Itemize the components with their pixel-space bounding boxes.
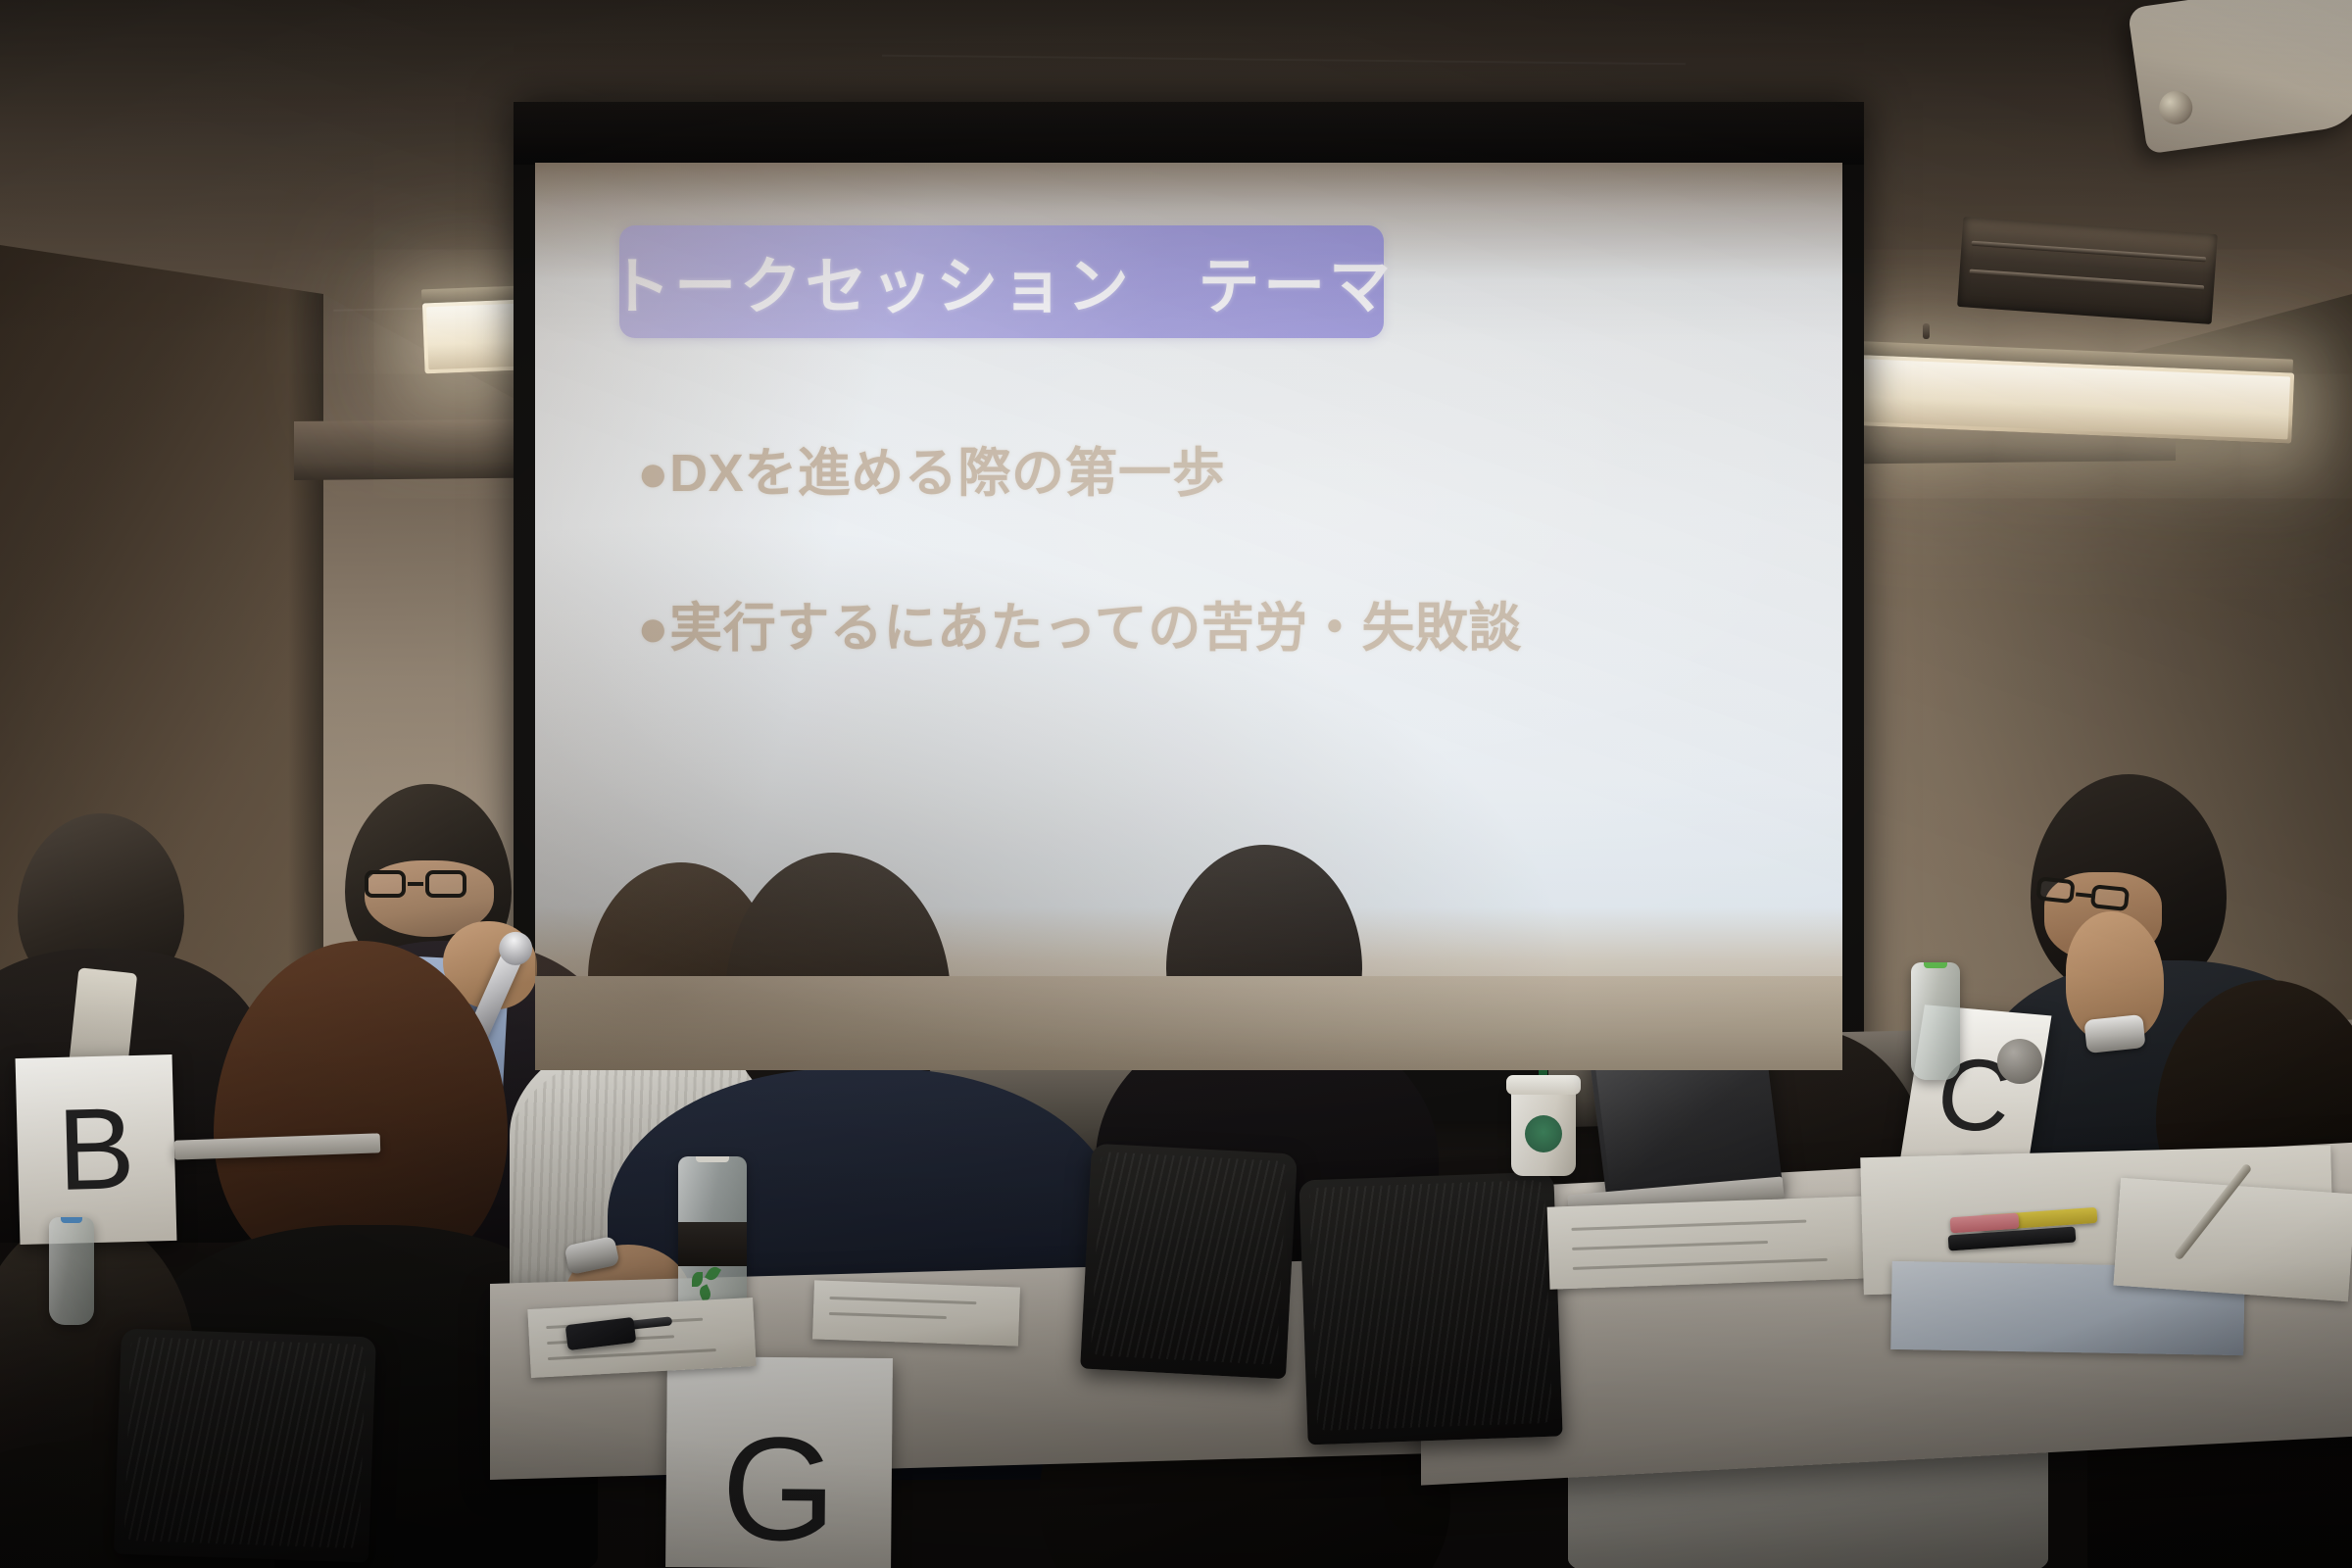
slide-bullet-2: ●実行するにあたっての苦労・失敗談: [637, 584, 1522, 661]
chair-mesh: [1309, 1180, 1553, 1431]
sprinkler-head: [1923, 323, 1930, 339]
glasses-lens-left: [365, 870, 406, 898]
placard-g: G: [665, 1356, 893, 1568]
glasses-lens-right: [425, 870, 466, 898]
placard-letter: G: [721, 1414, 837, 1562]
glasses-bridge: [2076, 892, 2091, 898]
bottle-cap: [696, 1156, 729, 1162]
office-chair: [1298, 1172, 1562, 1445]
wristwatch: [2083, 1014, 2145, 1053]
green-tea-bottle: [1911, 962, 1960, 1080]
placard-letter: B: [56, 1091, 136, 1208]
handout-paper: [812, 1280, 1020, 1346]
handout-paper: [2113, 1178, 2352, 1301]
glasses-icon: [365, 870, 482, 902]
paper-text-line: [1572, 1241, 1768, 1250]
slide-title-band: トークセッション テーマ: [619, 225, 1384, 338]
placard-b: B: [16, 1054, 177, 1245]
handout-paper: [527, 1298, 756, 1378]
conference-room-photo: トークセッション テーマ ●DXを進める際の第一歩 ●実行するにあたっての苦労・…: [0, 0, 2352, 1568]
water-bottle: [49, 1217, 94, 1325]
bottle-leaf-graphic: [705, 1264, 721, 1282]
starbucks-logo-icon: [1525, 1115, 1562, 1152]
slide-title: トークセッション テーマ: [609, 237, 1394, 326]
paper-text-line: [829, 1297, 976, 1304]
handout-paper: [1547, 1196, 1874, 1289]
coffee-cup: [1511, 1086, 1576, 1176]
projector-lens-icon: [2157, 89, 2194, 126]
office-chair: [114, 1329, 376, 1563]
paper-text-line: [829, 1312, 947, 1319]
bottle-label: [678, 1222, 747, 1267]
glasses-lens-right: [2090, 884, 2130, 911]
paper-text-line: [548, 1348, 716, 1360]
paper-text-line: [1571, 1220, 1806, 1231]
cup-lid: [1506, 1075, 1581, 1095]
screen-top-casing: [514, 102, 1864, 165]
screen-surface: トークセッション テーマ ●DXを進める際の第一歩 ●実行するにあたっての苦労・…: [535, 163, 1842, 1070]
slide-bullet-1: ●DXを進める際の第一歩: [637, 429, 1225, 507]
wall-below-projection: [535, 976, 1842, 1070]
chair-mesh: [124, 1337, 367, 1548]
microphone-on-stand: [1997, 1039, 2042, 1084]
glasses-bridge: [408, 882, 423, 886]
chair-mesh: [1091, 1151, 1288, 1365]
office-chair: [1080, 1144, 1298, 1380]
ceiling-vent: [1957, 217, 2218, 324]
bottle-cap: [1924, 962, 1947, 968]
bottle-cap: [61, 1217, 82, 1223]
glasses-lens-left: [2035, 876, 2075, 904]
slide-content: トークセッション テーマ ●DXを進める際の第一歩 ●実行するにあたっての苦労・…: [535, 163, 1842, 976]
projection-screen: トークセッション テーマ ●DXを進める際の第一歩 ●実行するにあたっての苦労・…: [514, 102, 1864, 1121]
bottle-leaf-graphic: [692, 1272, 703, 1287]
paper-text-line: [1573, 1258, 1828, 1270]
